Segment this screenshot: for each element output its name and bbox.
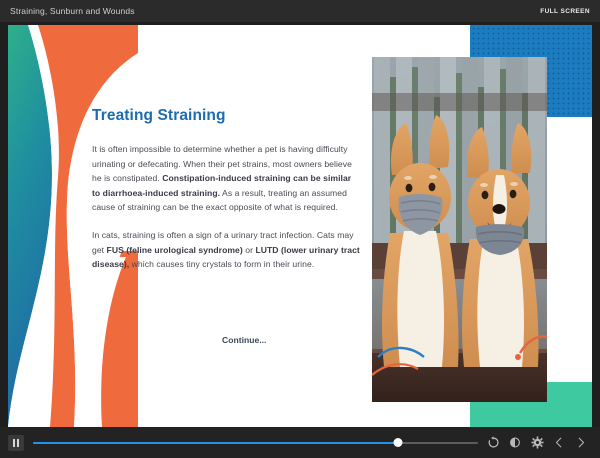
pause-bar-left (13, 439, 15, 447)
seek-progress-fill (33, 442, 398, 444)
slide-canvas: Treating Straining It is often impossibl… (8, 25, 592, 427)
settings-button[interactable] (526, 432, 548, 454)
fullscreen-button[interactable]: FULL SCREEN (540, 8, 590, 15)
seek-slider[interactable] (33, 435, 478, 451)
seek-thumb[interactable] (393, 438, 402, 447)
paragraph-2-emphasis-fus: FUS (feline urological syndrome) (107, 245, 243, 255)
previous-slide-button[interactable] (548, 432, 570, 454)
chevron-right-icon (575, 436, 587, 449)
chevron-left-icon (553, 436, 565, 449)
slide-paragraph-1: It is often impossible to determine whet… (92, 142, 360, 215)
corgis-photo-illustration (372, 57, 547, 402)
volume-icon (508, 436, 522, 449)
player-right-controls (482, 432, 592, 454)
pause-bar-right (17, 439, 19, 447)
next-slide-button[interactable] (570, 432, 592, 454)
gear-icon (531, 436, 544, 449)
replay-button[interactable] (482, 432, 504, 454)
slide-text-column: Treating Straining It is often impossibl… (92, 107, 360, 285)
slide-photo (372, 57, 547, 402)
course-title: Straining, Sunburn and Wounds (10, 6, 135, 16)
pause-button[interactable] (8, 435, 24, 451)
paragraph-2-text-b: which causes tiny crystals to form in th… (129, 259, 314, 269)
paragraph-2-text-mid: or (243, 245, 256, 255)
player-topbar: Straining, Sunburn and Wounds FULL SCREE… (0, 0, 600, 22)
elearning-player: Straining, Sunburn and Wounds FULL SCREE… (0, 0, 600, 458)
volume-button[interactable] (504, 432, 526, 454)
slide-heading: Treating Straining (92, 107, 360, 125)
continue-link[interactable]: Continue... (222, 335, 266, 345)
slide-paragraph-2: In cats, straining is often a sign of a … (92, 228, 360, 272)
player-controlbar (0, 427, 600, 458)
replay-icon (487, 436, 500, 449)
